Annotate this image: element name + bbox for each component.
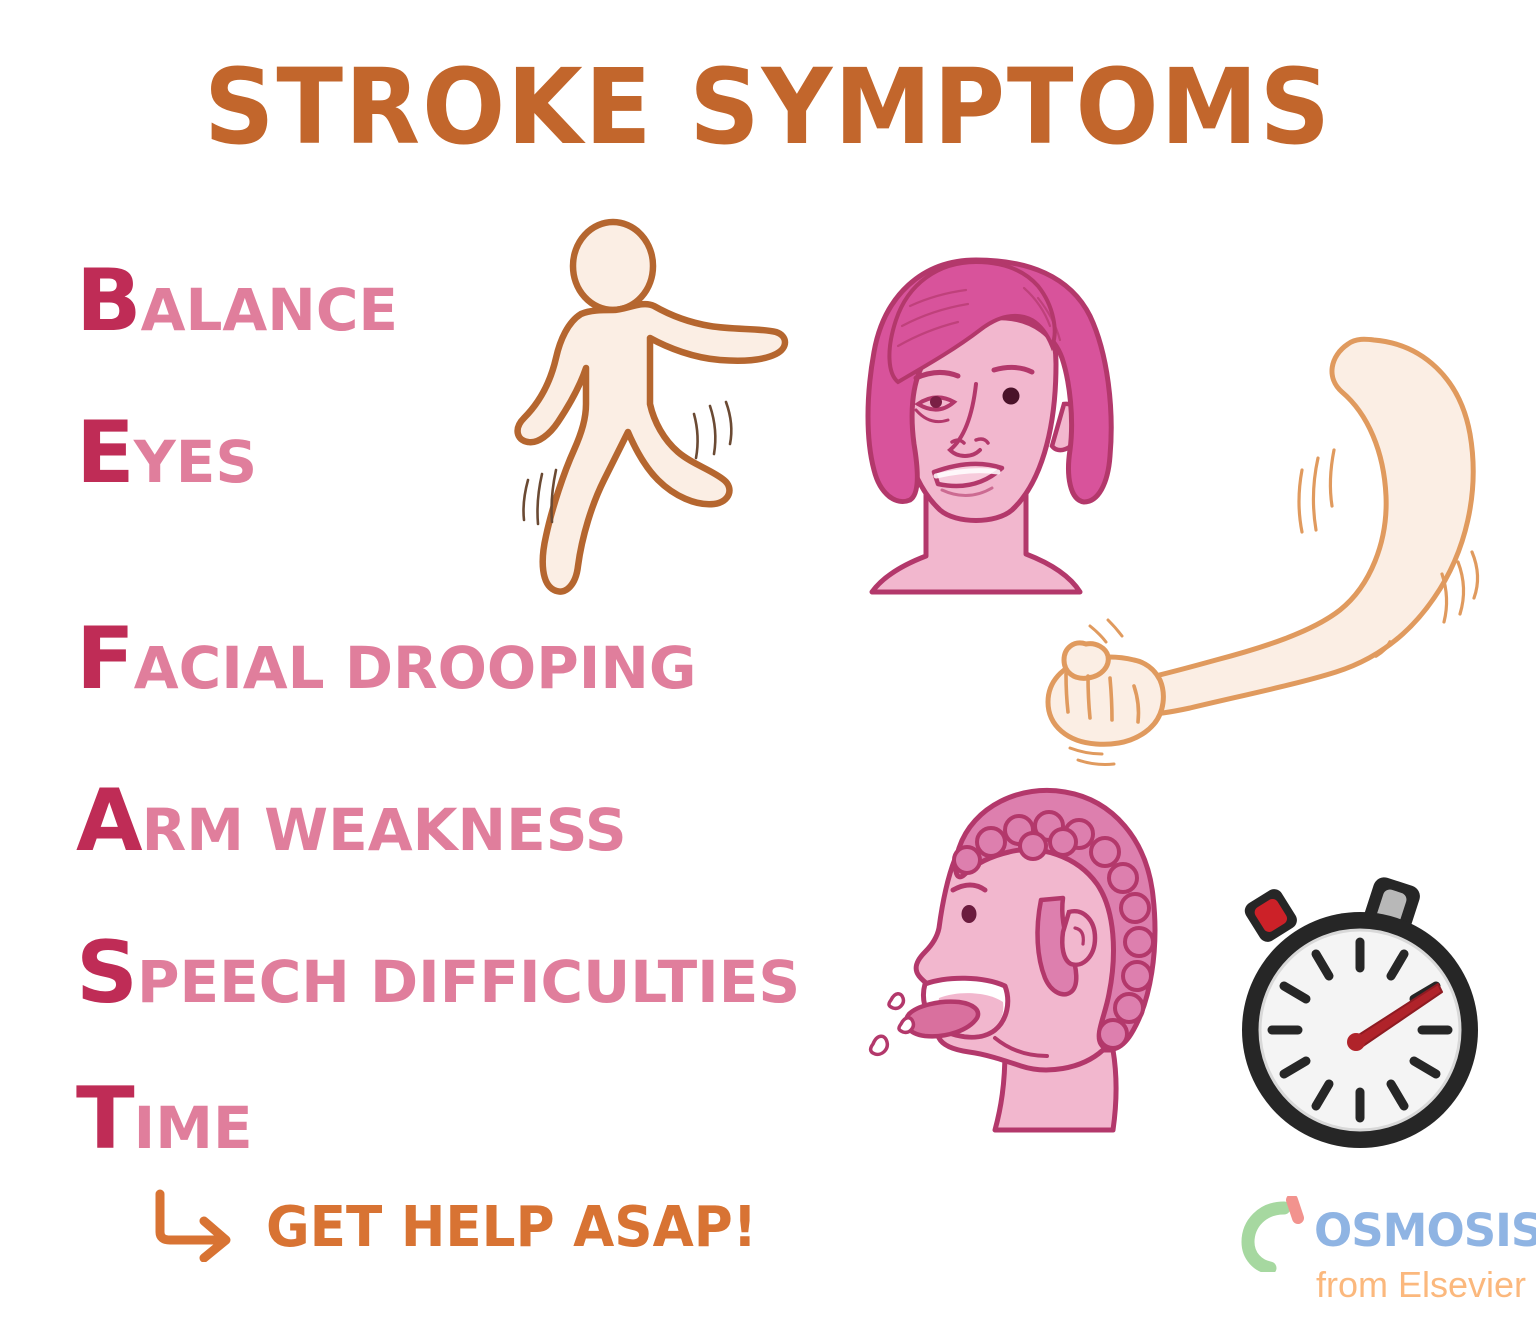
weak-arm-illustration xyxy=(1030,330,1500,770)
befast-label-speech-difficulties: PEECH DIFFICULTIES xyxy=(137,948,800,1016)
page-title: STROKE SYMPTOMS xyxy=(46,46,1490,168)
befast-label-balance: ALANCE xyxy=(141,276,398,344)
stopwatch-illustration xyxy=(1222,872,1498,1152)
befast-capital-b: B xyxy=(76,251,141,351)
befast-capital-e: E xyxy=(76,403,134,503)
befast-item-balance: BALANCE xyxy=(76,258,398,344)
speech-difficulty-head-illustration xyxy=(855,762,1175,1162)
befast-label-eyes: YES xyxy=(134,428,257,496)
befast-label-time: IME xyxy=(134,1094,253,1162)
befast-label-arm-weakness: RM WEAKNESS xyxy=(142,796,627,864)
befast-item-speech-difficulties: SPEECH DIFFICULTIES xyxy=(76,930,800,1016)
befast-item-facial-drooping: FACIAL DROOPING xyxy=(76,616,696,702)
befast-capital-s: S xyxy=(76,923,137,1023)
befast-label-facial-drooping: ACIAL DROOPING xyxy=(134,634,697,702)
stroke-symptoms-infographic: STROKE SYMPTOMS BALANCE EYES FACIAL DROO… xyxy=(0,0,1536,1344)
osmosis-logo: OSMOSIS from Elsevier xyxy=(1240,1192,1510,1322)
walking-figure-unsteady-illustration xyxy=(498,218,828,608)
befast-capital-a: A xyxy=(76,771,142,871)
call-to-action-text: GET HELP ASAP! xyxy=(266,1195,757,1260)
call-to-action: GET HELP ASAP! xyxy=(150,1188,783,1267)
befast-item-eyes: EYES xyxy=(76,410,257,496)
logo-tagline: from Elsevier xyxy=(1316,1264,1526,1306)
befast-item-arm-weakness: ARM WEAKNESS xyxy=(76,778,627,864)
befast-capital-t: T xyxy=(76,1069,134,1169)
logo-wordmark: OSMOSIS xyxy=(1314,1204,1536,1257)
osmosis-circle-mark-icon xyxy=(1240,1196,1312,1272)
corner-down-right-arrow-icon xyxy=(150,1188,242,1267)
befast-item-time: TIME xyxy=(76,1076,253,1162)
befast-capital-f: F xyxy=(76,609,134,709)
